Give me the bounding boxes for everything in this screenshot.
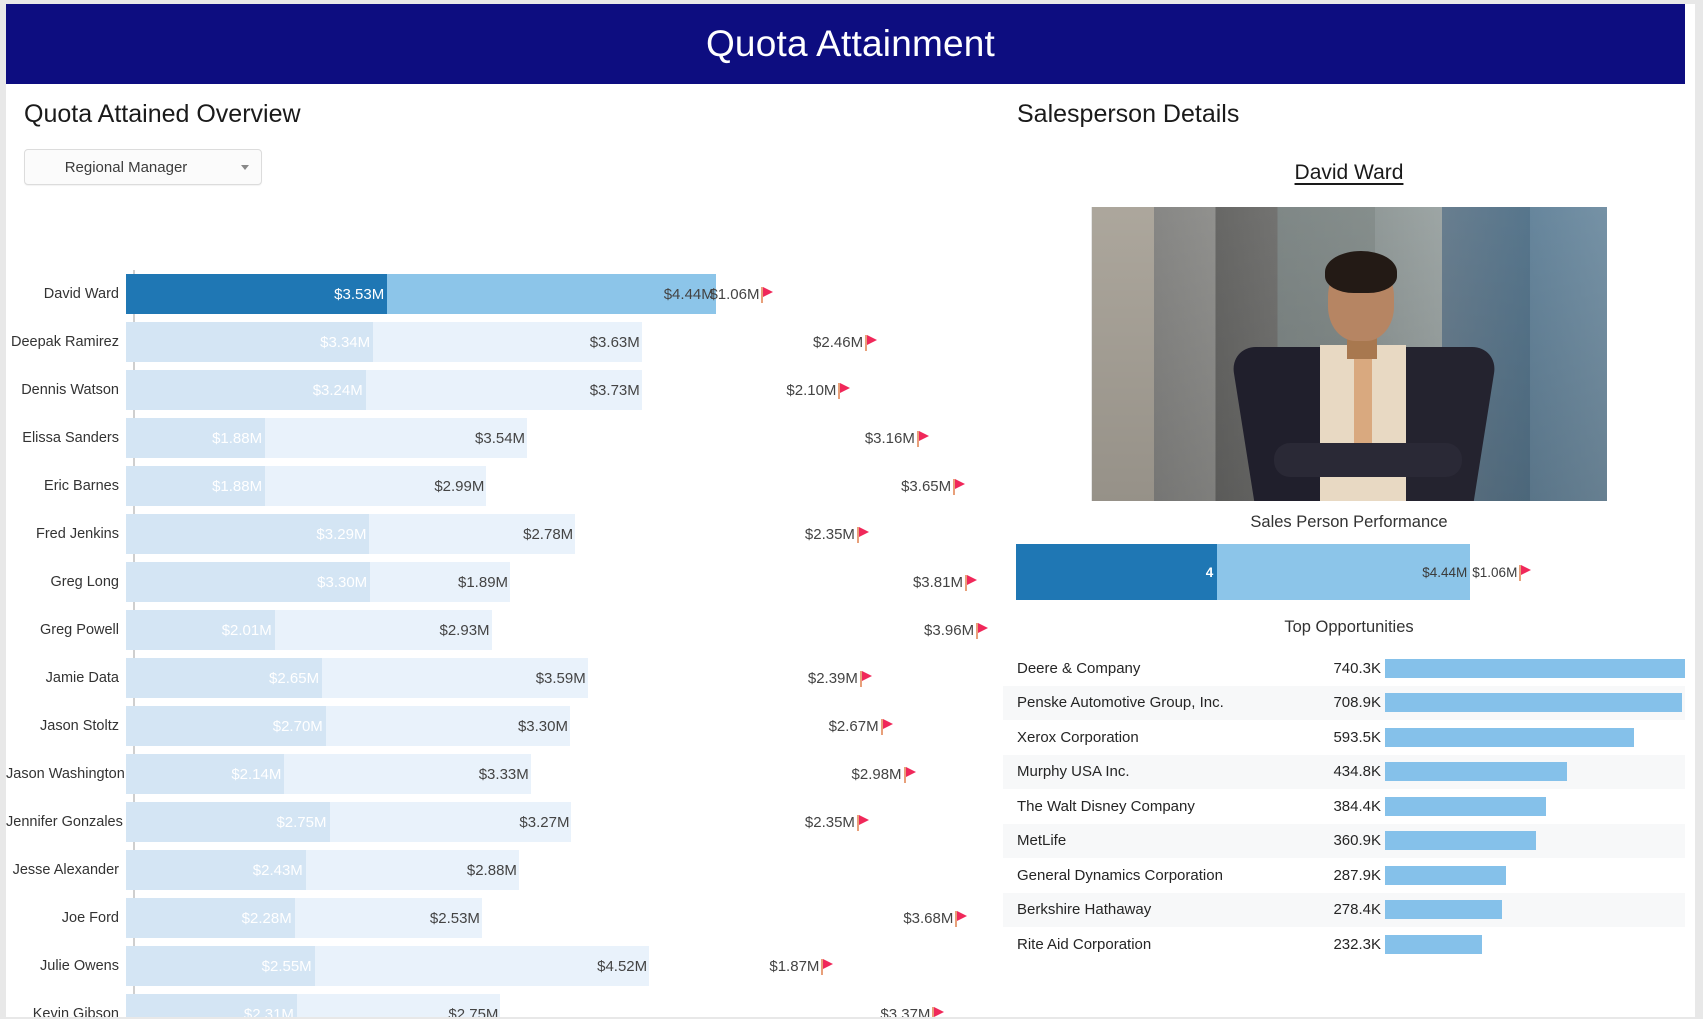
performance-bullet-chart: 4 $4.44M $1.06M	[1004, 544, 1694, 600]
quota-row[interactable]: Greg Long$3.30M$1.89M$3.81M	[6, 558, 1002, 606]
quota-gap-marker: $1.87M	[769, 946, 834, 986]
flag-icon	[965, 574, 978, 591]
quota-attained-segment[interactable]: $2.31M	[126, 994, 297, 1017]
opportunity-bar-track	[1385, 693, 1695, 712]
quota-row-label: Eric Barnes	[6, 478, 126, 494]
opportunity-value: 360.9K	[1307, 832, 1385, 849]
opportunity-bar-track	[1385, 762, 1695, 781]
quota-row[interactable]: Jamie Data$2.65M$3.59M$2.39M	[6, 654, 1002, 702]
flag-icon	[857, 526, 870, 543]
quota-attained-segment[interactable]: $2.28M	[126, 898, 295, 938]
performance-quota-segment[interactable]: $4.44M	[1217, 544, 1470, 600]
quota-gap-label: $2.46M	[813, 334, 863, 351]
quota-quota-segment[interactable]: $2.78M	[369, 514, 575, 554]
quota-quota-segment[interactable]: $4.52M	[315, 946, 649, 986]
opportunity-row[interactable]: General Dynamics Corporation287.9K	[1003, 858, 1695, 893]
photo-hair	[1325, 251, 1397, 293]
right-gutter	[1685, 4, 1695, 1017]
flag-icon	[865, 334, 878, 351]
quota-overview-pane: Quota Attained Overview Regional Manager…	[6, 84, 1002, 1017]
flag-icon	[838, 382, 851, 399]
quota-gap-marker: $2.46M	[813, 322, 878, 362]
quota-row[interactable]: Elissa Sanders$1.88M$3.54M$3.16M	[6, 414, 1002, 462]
quota-row-label: Joe Ford	[6, 910, 126, 926]
quota-overview-title: Quota Attained Overview	[6, 84, 1002, 129]
opportunity-bar	[1385, 728, 1634, 747]
flag-icon	[821, 958, 834, 975]
opportunity-value: 740.3K	[1307, 660, 1385, 677]
dashboard-body: Quota Attained Overview Regional Manager…	[6, 84, 1695, 1017]
opportunity-bar	[1385, 762, 1567, 781]
quota-attained-segment[interactable]: $2.43M	[126, 850, 306, 890]
quota-row-label: Jason Washington	[6, 766, 126, 782]
opportunity-name: MetLife	[1017, 832, 1307, 849]
quota-gap-marker: $2.10M	[786, 370, 851, 410]
page-title: Quota Attainment	[706, 23, 995, 65]
salesperson-photo	[1091, 207, 1607, 501]
quota-row-bars: $2.70M$3.30M$2.67M	[126, 702, 1002, 750]
quota-attained-segment[interactable]: $1.88M	[126, 466, 265, 506]
quota-quota-segment[interactable]: $2.75M	[297, 994, 501, 1017]
quota-row-bars: $2.01M$2.93M$3.96M	[126, 606, 1002, 654]
quota-gap-marker: $2.67M	[829, 706, 894, 746]
flag-icon	[953, 478, 966, 495]
quota-attained-segment[interactable]: $3.30M	[126, 562, 370, 602]
opportunity-name: Penske Automotive Group, Inc.	[1017, 694, 1307, 711]
opportunity-bar-track	[1385, 797, 1695, 816]
quota-row[interactable]: Jesse Alexander$2.43M$2.88M$5.35M	[6, 846, 1002, 894]
quota-attained-chart: David Ward$3.53M$4.44M$1.06MDeepak Ramir…	[6, 270, 1002, 1017]
quota-quota-segment[interactable]: $3.59M	[322, 658, 588, 698]
quota-attained-segment[interactable]: $3.34M	[126, 322, 373, 362]
flag-icon	[860, 670, 873, 687]
performance-gap-label: $1.06M	[1472, 565, 1517, 580]
salesperson-name-link[interactable]: David Ward	[1003, 161, 1695, 185]
opportunity-bar-track	[1385, 659, 1695, 678]
performance-attained-label: 4	[1206, 565, 1214, 580]
quota-row-label: Jason Stoltz	[6, 718, 126, 734]
regional-manager-dropdown[interactable]: Regional Manager	[24, 149, 262, 185]
quota-row-bars: $2.43M$2.88M$5.35M	[126, 846, 1002, 894]
flag-icon	[904, 766, 917, 783]
quota-quota-segment[interactable]: $2.93M	[275, 610, 492, 650]
quota-gap-label: $2.98M	[852, 766, 902, 783]
quota-row-bars: $3.24M$3.73M$2.10M	[126, 366, 1002, 414]
quota-gap-label: $2.67M	[829, 718, 879, 735]
opportunity-value: 384.4K	[1307, 798, 1385, 815]
quota-row-bars: $3.53M$4.44M$1.06M	[126, 270, 1002, 318]
opportunity-bar	[1385, 935, 1482, 954]
opportunity-bar	[1385, 797, 1546, 816]
flag-icon	[761, 286, 774, 303]
opportunity-row[interactable]: Xerox Corporation593.5K	[1003, 720, 1695, 755]
dropdown-selected-value: Regional Manager	[37, 159, 241, 176]
quota-attained-segment[interactable]: $2.14M	[126, 754, 284, 794]
quota-row-bars: $2.75M$3.27M$2.35M	[126, 798, 1002, 846]
opportunity-value: 287.9K	[1307, 867, 1385, 884]
opportunity-value: 593.5K	[1307, 729, 1385, 746]
quota-gap-label: $3.68M	[903, 910, 953, 927]
opportunity-row[interactable]: Murphy USA Inc.434.8K	[1003, 755, 1695, 790]
quota-quota-segment[interactable]: $2.53M	[295, 898, 482, 938]
quota-gap-marker: $3.96M	[924, 610, 989, 650]
salesperson-details-title: Salesperson Details	[1003, 84, 1695, 129]
quota-gap-marker: $3.37M	[880, 994, 945, 1017]
opportunity-row[interactable]: Rite Aid Corporation232.3K	[1003, 927, 1695, 962]
opportunity-bar-track	[1385, 728, 1695, 747]
opportunity-name: Murphy USA Inc.	[1017, 763, 1307, 780]
quota-quota-segment[interactable]: $3.63M	[373, 322, 642, 362]
quota-row[interactable]: Jason Washington$2.14M$3.33M$2.98M	[6, 750, 1002, 798]
opportunity-bar	[1385, 831, 1536, 850]
opportunity-bar	[1385, 659, 1695, 678]
opportunity-row[interactable]: Deere & Company740.3K	[1003, 651, 1695, 686]
quota-attained-segment[interactable]: $3.24M	[126, 370, 366, 410]
opportunity-bar-track	[1385, 866, 1695, 885]
top-opportunities-list: Deere & Company740.3KPenske Automotive G…	[1003, 651, 1695, 962]
quota-row-bars: $2.28M$2.53M$3.68M	[126, 894, 1002, 942]
quota-quota-segment[interactable]: $1.89M	[370, 562, 510, 602]
quota-gap-label: $2.39M	[808, 670, 858, 687]
quota-row[interactable]: Kevin Gibson$2.31M$2.75M$3.37M	[6, 990, 1002, 1017]
quota-row[interactable]: Greg Powell$2.01M$2.93M$3.96M	[6, 606, 1002, 654]
quota-gap-marker: $3.16M	[865, 418, 930, 458]
quota-row[interactable]: Jason Stoltz$2.70M$3.30M$2.67M	[6, 702, 1002, 750]
opportunity-row[interactable]: The Walt Disney Company384.4K	[1003, 789, 1695, 824]
opportunity-name: Xerox Corporation	[1017, 729, 1307, 746]
quota-row[interactable]: Fred Jenkins$3.29M$2.78M$2.35M	[6, 510, 1002, 558]
opportunity-name: The Walt Disney Company	[1017, 798, 1307, 815]
quota-attained-segment[interactable]: $2.65M	[126, 658, 322, 698]
chevron-down-icon	[241, 165, 249, 170]
quota-row[interactable]: Julie Owens$2.55M$4.52M$1.87M	[6, 942, 1002, 990]
quota-row[interactable]: Deepak Ramirez$3.34M$3.63M$2.46M	[6, 318, 1002, 366]
quota-gap-marker: $3.68M	[903, 898, 968, 938]
photo-arms	[1274, 443, 1462, 477]
opportunity-bar	[1385, 866, 1506, 885]
opportunity-bar	[1385, 693, 1682, 712]
quota-attained-segment[interactable]: $3.29M	[126, 514, 369, 554]
flag-icon	[955, 910, 968, 927]
quota-gap-marker: $1.06M	[709, 274, 774, 314]
quota-gap-marker: $3.81M	[913, 562, 978, 602]
quota-row[interactable]: Eric Barnes$1.88M$2.99M$3.65M	[6, 462, 1002, 510]
quota-gap-label: $2.10M	[786, 382, 836, 399]
app-header: Quota Attainment	[6, 4, 1695, 84]
quota-gap-label: $3.16M	[865, 430, 915, 447]
quota-attained-segment[interactable]: $3.53M	[126, 274, 387, 314]
quota-gap-label: $1.87M	[769, 958, 819, 975]
quota-row[interactable]: Jennifer Gonzales$2.75M$3.27M$2.35M	[6, 798, 1002, 846]
quota-row-label: Dennis Watson	[6, 382, 126, 398]
opportunity-bar	[1385, 900, 1502, 919]
quota-gap-label: $3.65M	[901, 478, 951, 495]
quota-row[interactable]: Dennis Watson$3.24M$3.73M$2.10M	[6, 366, 1002, 414]
quota-row-label: David Ward	[6, 286, 126, 302]
opportunity-name: Berkshire Hathaway	[1017, 901, 1307, 918]
quota-attained-segment[interactable]: $2.01M	[126, 610, 275, 650]
quota-row-label: Julie Owens	[6, 958, 126, 974]
quota-row-label: Elissa Sanders	[6, 430, 126, 446]
opportunity-name: General Dynamics Corporation	[1017, 867, 1307, 884]
quota-row-label: Greg Long	[6, 574, 126, 590]
performance-gap: $1.06M	[1472, 544, 1532, 600]
quota-gap-label: $2.35M	[805, 814, 855, 831]
opportunity-bar-track	[1385, 831, 1695, 850]
dashboard-root: Quota Attainment Quota Attained Overview…	[6, 4, 1695, 1017]
opportunity-row[interactable]: Berkshire Hathaway278.4K	[1003, 893, 1695, 928]
performance-title: Sales Person Performance	[1003, 513, 1695, 532]
quota-row-bars: $2.55M$4.52M$1.87M	[126, 942, 1002, 990]
quota-row-bars: $2.14M$3.33M$2.98M	[126, 750, 1002, 798]
opportunities-title: Top Opportunities	[1003, 618, 1695, 637]
flag-icon	[857, 814, 870, 831]
quota-row-label: Fred Jenkins	[6, 526, 126, 542]
quota-row[interactable]: Joe Ford$2.28M$2.53M$3.68M	[6, 894, 1002, 942]
opportunity-row[interactable]: MetLife360.9K	[1003, 824, 1695, 859]
opportunity-bar-track	[1385, 935, 1695, 954]
opportunity-name: Rite Aid Corporation	[1017, 936, 1307, 953]
opportunity-bar-track	[1385, 900, 1695, 919]
quota-gap-marker: $2.35M	[805, 802, 870, 842]
quota-row-bars: $3.30M$1.89M$3.81M	[126, 558, 1002, 606]
opportunity-name: Deere & Company	[1017, 660, 1307, 677]
quota-attained-segment[interactable]: $1.88M	[126, 418, 265, 458]
quota-row-label: Kevin Gibson	[6, 1006, 126, 1017]
flag-icon	[881, 718, 894, 735]
quota-row-label: Jamie Data	[6, 670, 126, 686]
flag-icon	[1519, 564, 1532, 581]
flag-icon	[932, 1006, 945, 1018]
quota-row[interactable]: David Ward$3.53M$4.44M$1.06M	[6, 270, 1002, 318]
opportunity-value: 232.3K	[1307, 936, 1385, 953]
quota-gap-label: $2.35M	[805, 526, 855, 543]
quota-gap-label: $1.06M	[709, 286, 759, 303]
quota-gap-marker: $2.39M	[808, 658, 873, 698]
quota-gap-marker: $2.35M	[805, 514, 870, 554]
quota-row-bars: $2.65M$3.59M$2.39M	[126, 654, 1002, 702]
quota-row-bars: $2.31M$2.75M$3.37M	[126, 990, 1002, 1017]
performance-quota-label: $4.44M	[1422, 565, 1467, 580]
quota-gap-marker: $3.65M	[901, 466, 966, 506]
quota-quota-segment[interactable]: $3.73M	[366, 370, 642, 410]
quota-quota-segment[interactable]: $3.54M	[265, 418, 527, 458]
quota-row-label: Greg Powell	[6, 622, 126, 638]
quota-quota-segment[interactable]: $3.33M	[284, 754, 530, 794]
quota-row-label: Deepak Ramirez	[6, 334, 126, 350]
quota-row-bars: $3.29M$2.78M$2.35M	[126, 510, 1002, 558]
quota-quota-segment[interactable]: $2.88M	[306, 850, 519, 890]
flag-icon	[976, 622, 989, 639]
quota-quota-segment[interactable]: $3.30M	[326, 706, 570, 746]
quota-quota-segment[interactable]: $4.44M	[387, 274, 716, 314]
quota-gap-label: $3.96M	[924, 622, 974, 639]
quota-row-bars: $1.88M$2.99M$3.65M	[126, 462, 1002, 510]
opportunity-value: 434.8K	[1307, 763, 1385, 780]
quota-quota-segment[interactable]: $3.27M	[330, 802, 572, 842]
quota-row-label: Jesse Alexander	[6, 862, 126, 878]
performance-attained-segment[interactable]: 4	[1016, 544, 1217, 600]
quota-attained-segment[interactable]: $2.70M	[126, 706, 326, 746]
quota-row-label: Jennifer Gonzales	[6, 814, 126, 830]
opportunity-value: 708.9K	[1307, 694, 1385, 711]
quota-row-bars: $1.88M$3.54M$3.16M	[126, 414, 1002, 462]
quota-attained-segment[interactable]: $2.75M	[126, 802, 330, 842]
quota-gap-label: $3.37M	[880, 1006, 930, 1018]
quota-gap-label: $3.81M	[913, 574, 963, 591]
flag-icon	[917, 430, 930, 447]
opportunity-value: 278.4K	[1307, 901, 1385, 918]
salesperson-details-pane: Salesperson Details David Ward Sales Per…	[1002, 84, 1695, 1017]
opportunity-row[interactable]: Penske Automotive Group, Inc.708.9K	[1003, 686, 1695, 721]
quota-attained-segment[interactable]: $2.55M	[126, 946, 315, 986]
quota-row-bars: $3.34M$3.63M$2.46M	[126, 318, 1002, 366]
quota-gap-marker: $2.98M	[852, 754, 917, 794]
quota-quota-segment[interactable]: $2.99M	[265, 466, 486, 506]
